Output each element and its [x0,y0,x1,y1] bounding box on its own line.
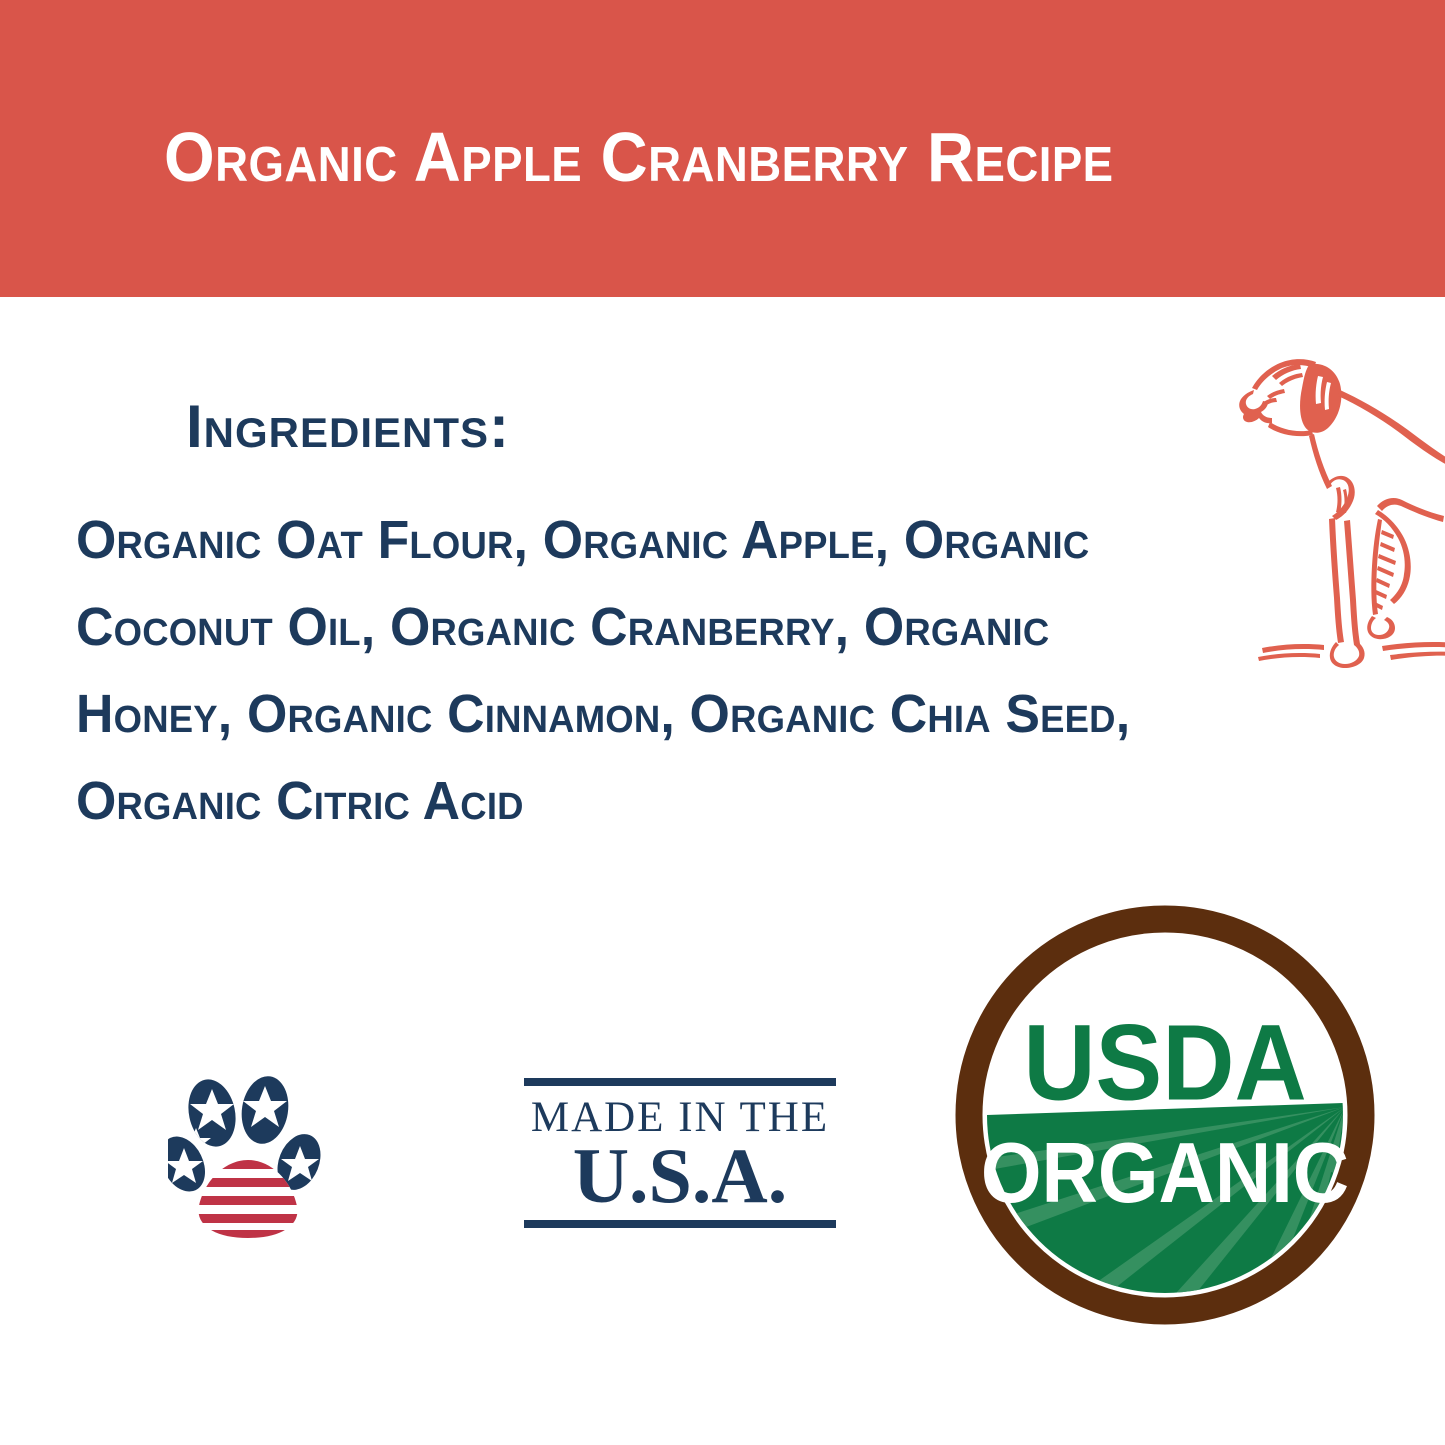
badge-rule-bottom [524,1220,836,1228]
ingredients-heading: Ingredients: [186,394,510,460]
ingredients-text: Organic Oat Flour, Organic Apple, Organi… [76,497,1161,845]
page-title: Organic Apple Cranberry Recipe [164,118,1114,196]
made-in-usa-badge: MADE IN THE U.S.A. [168,1068,678,1243]
usda-label: USDA [1023,1003,1306,1123]
usda-organic-seal: USDA ORGANIC [953,903,1377,1327]
dog-line-art-icon [1232,330,1445,670]
paw-print-flag-icon [168,1072,328,1240]
header-banner: Organic Apple Cranberry Recipe [0,0,1445,297]
organic-label: ORGANIC [981,1126,1349,1221]
made-in-usa-text-block: MADE IN THE U.S.A. [524,1078,836,1228]
badge-rule-top [524,1078,836,1086]
usa-label: U.S.A. [526,1134,834,1218]
